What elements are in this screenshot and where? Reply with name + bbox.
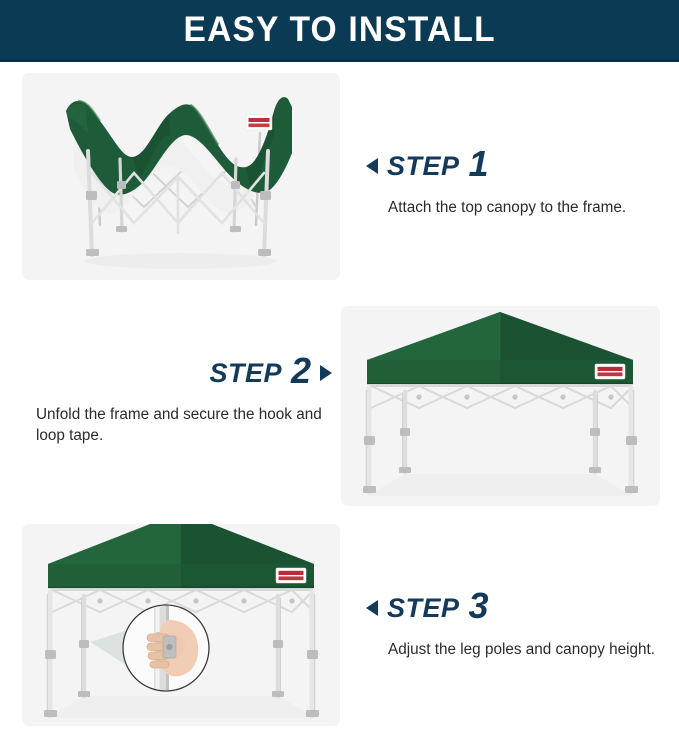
step-3-text: STEP 3 Adjust the leg poles and canopy h…	[366, 590, 662, 660]
triangle-right-icon	[320, 365, 332, 381]
install-instructions-page: EASY TO INSTALL	[0, 0, 679, 734]
step-3-heading: STEP 3	[366, 590, 662, 626]
step-3-number: 3	[469, 588, 489, 624]
step-3-description: Adjust the leg poles and canopy height.	[366, 639, 662, 660]
step-1-description: Attach the top canopy to the frame.	[366, 197, 662, 218]
image-panel-step-2	[341, 306, 660, 506]
canopy-draped-over-frame	[22, 73, 340, 280]
brand-logo-tag-2	[595, 364, 625, 379]
magnifier-circle-hand-on-pole	[123, 604, 209, 694]
triangle-left-icon	[366, 158, 378, 174]
canopy-leg-adjust	[22, 524, 340, 726]
step-1-heading: STEP 1	[366, 148, 662, 184]
triangle-left-icon	[366, 600, 378, 616]
step-2-description: Unfold the frame and secure the hook and…	[20, 404, 332, 446]
step-1-number: 1	[469, 146, 489, 182]
brand-logo-tag-3	[276, 568, 306, 583]
step-3-label: STEP	[387, 595, 460, 622]
page-title: EASY TO INSTALL	[183, 12, 495, 47]
image-panel-step-1	[22, 73, 340, 280]
step-1-label: STEP	[387, 153, 460, 180]
canopy-assembled	[341, 306, 660, 506]
image-panel-step-3	[22, 524, 340, 726]
step-2-heading: STEP 2	[20, 355, 332, 391]
step-2-text: STEP 2 Unfold the frame and secure the h…	[20, 355, 332, 446]
step-1-text: STEP 1 Attach the top canopy to the fram…	[366, 148, 662, 218]
step-2-number: 2	[291, 353, 311, 389]
step-2-label: STEP	[209, 360, 282, 387]
brand-logo-tag-1	[246, 115, 272, 130]
header-banner: EASY TO INSTALL	[0, 0, 679, 62]
